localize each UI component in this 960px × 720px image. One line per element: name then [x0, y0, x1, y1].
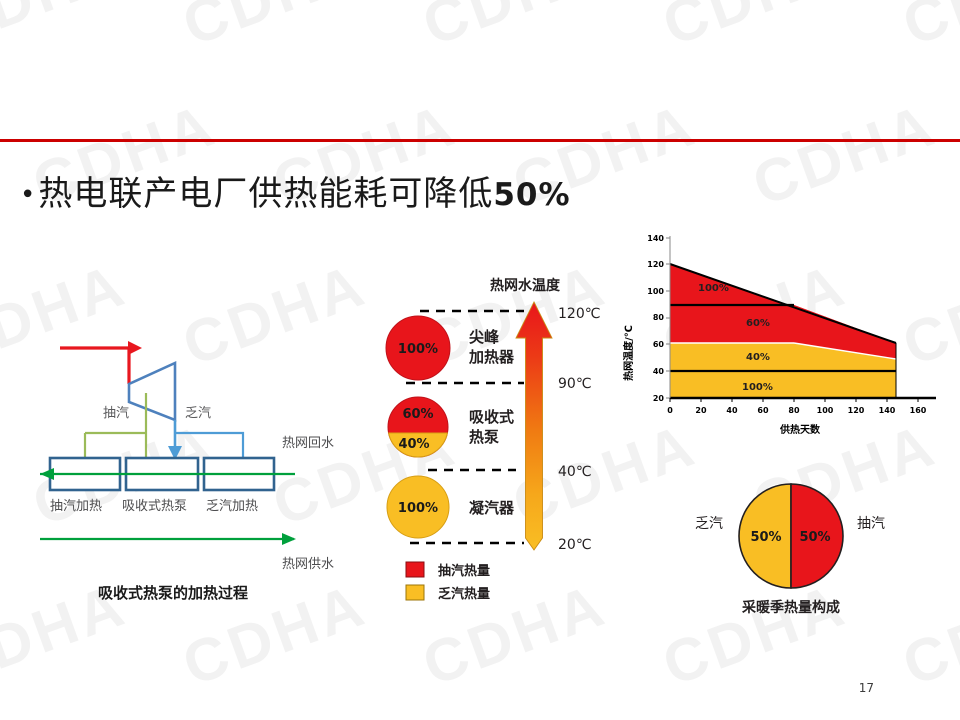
svg-text:100: 100 [647, 287, 664, 296]
extraction-steam-path [85, 393, 146, 458]
chart-x-ticks: 0 20 40 60 80 100 120 140 160 [667, 398, 927, 415]
left-diagram-caption: 吸收式热泵的加热过程 [98, 584, 248, 602]
stage-1-name-line1: 吸收式 [469, 408, 514, 426]
svg-text:100: 100 [817, 406, 834, 415]
watermark-text: CDHA [0, 0, 135, 59]
stage-pie-absorption-pump: 60% 40% [388, 397, 448, 457]
steam-inlet-arrow [60, 341, 142, 384]
pie-caption: 采暖季热量构成 [741, 599, 840, 616]
label-return-water: 热网回水 [282, 436, 334, 451]
stage-2-name-line1: 凝汽器 [469, 499, 515, 517]
area-label-1: 60% [746, 318, 770, 329]
temp-label-1: 90℃ [558, 376, 592, 392]
exhaust-steam-path [168, 420, 243, 460]
svg-text:0: 0 [667, 406, 673, 415]
heating-stage-diagram: 100% 尖峰 加热器 60% 40% 吸收式 热泵 100% 凝汽器 [380, 270, 630, 615]
temp-label-0: 120℃ [558, 306, 600, 322]
box-label-1: 吸收式热泵 [122, 499, 187, 514]
svg-text:80: 80 [653, 313, 665, 322]
stage-2-yellow-pct: 100% [398, 501, 438, 516]
svg-text:60: 60 [653, 340, 665, 349]
area-label-2: 40% [746, 352, 770, 363]
watermark-text: CDHA [174, 0, 376, 59]
title-text: 热电联产电厂供热能耗可降低 [38, 174, 493, 214]
box-label-0: 抽汽加热 [50, 499, 102, 514]
stage-1-name-line2: 热泵 [469, 428, 499, 446]
bullet-icon: • [20, 180, 36, 210]
pie-label-right: 抽汽 [857, 516, 885, 532]
page-number: 17 [859, 681, 874, 695]
pie-value-exhaust: 50% [750, 530, 781, 545]
watermark-text: CDHA [414, 0, 616, 59]
stage-0-name-line1: 尖峰 [469, 328, 500, 346]
label-supply-water: 热网供水 [282, 557, 334, 572]
slide-canvas: CDHACDHACDHACDHACDHACDHACDHACDHACDHACDHA… [0, 0, 960, 720]
svg-text:120: 120 [848, 406, 865, 415]
turbine-shape [129, 363, 175, 420]
watermark-text: CDHA [654, 0, 856, 59]
chart-y-ticks: 140 120 100 80 60 40 20 [647, 234, 670, 403]
svg-text:20: 20 [695, 406, 707, 415]
label-extraction-steam: 抽汽 [103, 406, 129, 421]
svg-text:40: 40 [726, 406, 738, 415]
pie-label-left: 乏汽 [695, 516, 723, 532]
label-exhaust-steam: 乏汽 [185, 406, 211, 421]
temp-axis-title: 热网水温度 [490, 277, 561, 294]
heat-source-legend: 抽汽热量 乏汽热量 [406, 562, 490, 602]
svg-text:80: 80 [788, 406, 800, 415]
svg-text:140: 140 [879, 406, 896, 415]
stage-0-red-pct: 100% [398, 342, 438, 357]
stage-1-red-pct: 60% [402, 407, 433, 422]
area-label-3: 100% [742, 382, 773, 393]
stage-0-name-line2: 加热器 [468, 348, 515, 366]
temp-label-2: 40℃ [558, 464, 592, 480]
page-title: •热电联产电厂供热能耗可降低50% [20, 166, 571, 215]
svg-text:60: 60 [757, 406, 769, 415]
supply-water-line [40, 533, 296, 545]
pie-value-extraction: 50% [799, 530, 830, 545]
header-rule [0, 139, 960, 142]
chart-y-axis-label: 热网温度/℃ [622, 325, 635, 381]
title-percent: 50% [493, 177, 570, 213]
svg-text:160: 160 [910, 406, 927, 415]
stage-pie-condenser: 100% [387, 476, 449, 538]
svg-text:40: 40 [653, 367, 665, 376]
stage-pie-peak-heater: 100% [386, 316, 450, 380]
heating-season-area-chart: 热网温度/℃ 140 120 100 80 60 40 20 [618, 228, 948, 458]
svg-text:120: 120 [647, 260, 664, 269]
area-condenser [670, 371, 896, 398]
chart-x-axis-label: 供热天数 [779, 423, 821, 436]
season-heat-composition-pie: 50% 50% 乏汽 抽汽 采暖季热量构成 [665, 478, 925, 618]
temp-label-3: 20℃ [558, 537, 592, 553]
absorption-heat-pump-diagram: 抽汽 乏汽 抽汽加热 吸收式热泵 乏汽加热 热网回水 热网供水 吸收式热泵的加 [30, 330, 380, 610]
legend-label-1: 乏汽热量 [438, 586, 490, 602]
svg-text:140: 140 [647, 234, 664, 243]
area-label-0: 100% [698, 283, 729, 294]
watermark-text: CDHA [894, 0, 960, 59]
legend-label-0: 抽汽热量 [438, 563, 490, 579]
temperature-arrow [516, 302, 552, 550]
box-label-2: 乏汽加热 [206, 499, 258, 514]
watermark-text: CDHA [744, 90, 946, 220]
stage-1-yellow-pct: 40% [398, 437, 429, 452]
svg-text:20: 20 [653, 394, 665, 403]
